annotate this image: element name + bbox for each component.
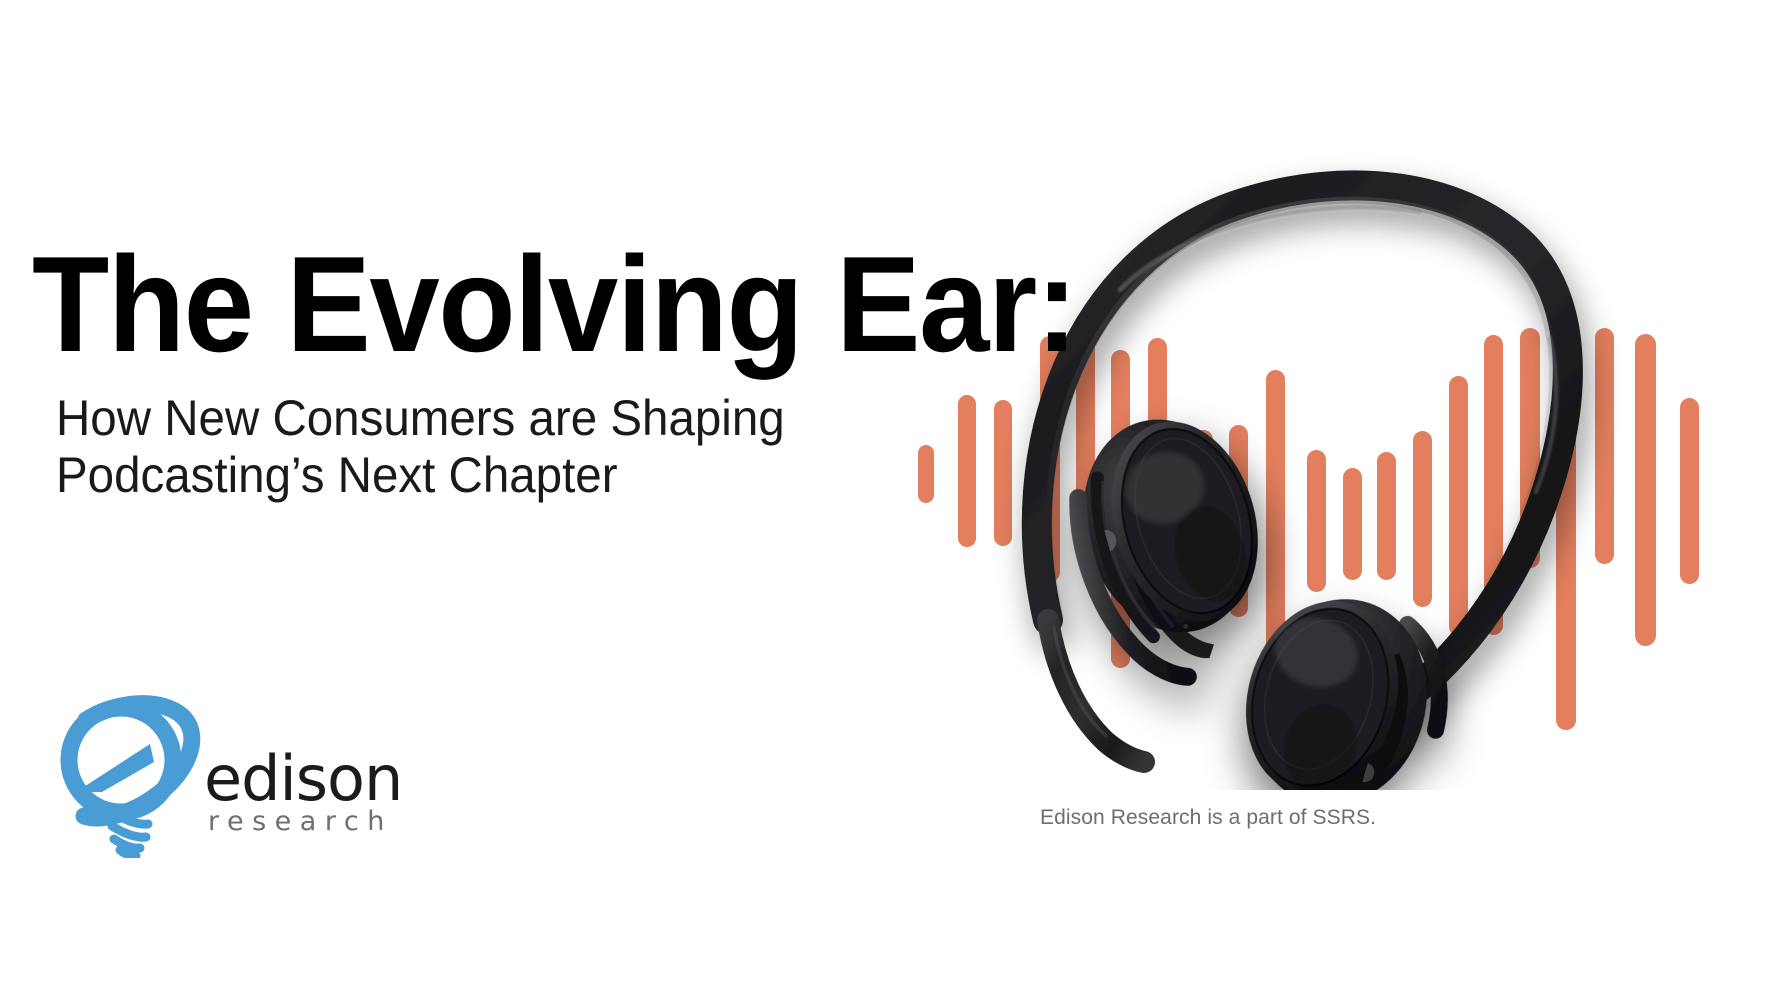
waveform-bar — [1111, 350, 1130, 668]
footer-note: Edison Research is a part of SSRS. — [1040, 806, 1376, 830]
slide-canvas: The Evolving Ear: How New Consumers are … — [0, 0, 1784, 1000]
edison-research-logo: edison research — [58, 686, 388, 858]
waveform-bar — [1449, 376, 1468, 636]
waveform-bar — [1307, 450, 1326, 592]
waveform-bar — [1229, 425, 1248, 617]
waveform-bar — [1194, 430, 1213, 594]
waveform-bar — [1484, 335, 1503, 635]
logo-wordmark-edison: edison — [204, 748, 402, 810]
waveform-bar — [1266, 370, 1285, 670]
waveform-bar — [1076, 328, 1095, 534]
waveform-bar — [1520, 328, 1540, 568]
waveform-bar — [1413, 431, 1432, 607]
page-subtitle: How New Consumers are Shaping Podcasting… — [56, 390, 778, 503]
waveform-bar — [1148, 338, 1167, 570]
subtitle-line-2: Podcasting’s Next Chapter — [56, 447, 778, 504]
waveform-bar — [1595, 328, 1614, 564]
subtitle-line-1: How New Consumers are Shaping — [56, 390, 778, 447]
logo-wordmark-research: research — [208, 808, 393, 835]
waveform-bar — [1556, 406, 1576, 730]
waveform-bar — [1635, 334, 1656, 646]
page-title: The Evolving Ear: — [32, 236, 962, 372]
waveform-bar — [1680, 398, 1699, 584]
waveform-bar — [1343, 468, 1362, 580]
edison-lightbulb-orbit-icon — [58, 686, 208, 863]
waveform-bar — [1377, 452, 1396, 580]
title-block: The Evolving Ear: How New Consumers are … — [32, 236, 1032, 503]
